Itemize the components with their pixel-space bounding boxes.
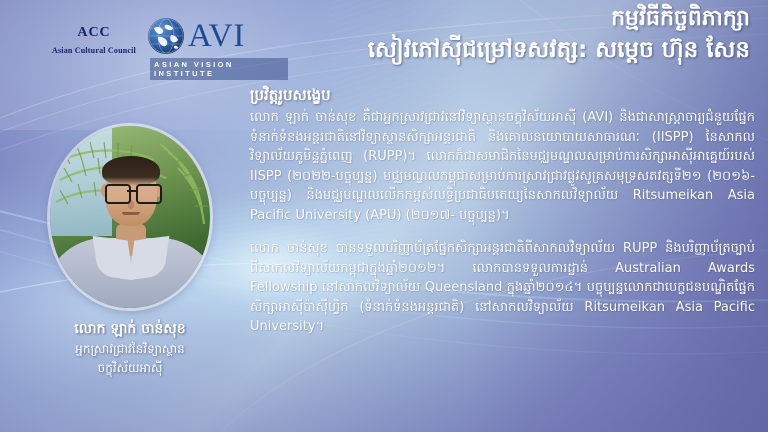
biography-paragraph-1: លោក ឡាក់ ចាន់សុខ គឺជាអ្នកស្រាវជ្រាវនៅវិទ… xyxy=(250,108,755,225)
photo-hair xyxy=(102,156,160,186)
speaker-role-line-2: ចក្ខុវិស័យអាស៊ី xyxy=(18,359,242,378)
glasses-icon xyxy=(104,184,160,200)
avi-logo: AVI ASIAN VISION INSTITUTE xyxy=(148,16,288,78)
photo-mouth xyxy=(122,212,140,215)
globe-icon xyxy=(148,18,184,54)
speaker-caption: លោក ឡាក់ ចាន់សុខ អ្នកស្រាវជ្រាវនៃវិទ្យាស… xyxy=(18,318,242,378)
biography-paragraph-2: លោក ចាន់សុខ បានទទួលបរិញ្ញាប័ត្រផ្នែកសិក្… xyxy=(250,239,755,337)
speaker-role-line-1: អ្នកស្រាវជ្រាវនៃវិទ្យាស្ថាន xyxy=(18,340,242,359)
avi-wordmark: AVI xyxy=(188,16,245,56)
slide-title: កម្មវិធីកិច្ចពិភាក្សា សៀវភៅស៊ីជម្រៅទសវត្… xyxy=(280,4,750,66)
speaker-photo xyxy=(50,126,210,308)
acc-logo-subtitle: Asian Cultural Council xyxy=(36,46,152,55)
speaker-name: លោក ឡាក់ ចាន់សុខ xyxy=(18,318,242,340)
slide-title-line-2: សៀវភៅស៊ីជម្រៅទសវត្ស: សម្ដេច ហ៊ុន សែន xyxy=(280,34,750,66)
acc-logo: ACC Asian Cultural Council xyxy=(36,22,152,78)
avi-logo-subtitle: ASIAN VISION INSTITUTE xyxy=(150,58,288,80)
presentation-slide: ACC Asian Cultural Council xyxy=(0,0,768,432)
biography-heading: ប្រវិត្តរូបសង្ខេប xyxy=(250,84,755,106)
logo-row: ACC Asian Cultural Council xyxy=(0,0,300,90)
acc-logo-title: ACC xyxy=(36,25,152,41)
slide-title-line-1: កម្មវិធីកិច្ចពិភាក្សា xyxy=(280,4,750,34)
portrait-image xyxy=(50,126,210,308)
biography-block: ប្រវិត្តរូបសង្ខេប លោក ឡាក់ ចាន់សុខ គឺជាអ… xyxy=(250,84,755,351)
acc-flags: ACC xyxy=(36,22,152,44)
